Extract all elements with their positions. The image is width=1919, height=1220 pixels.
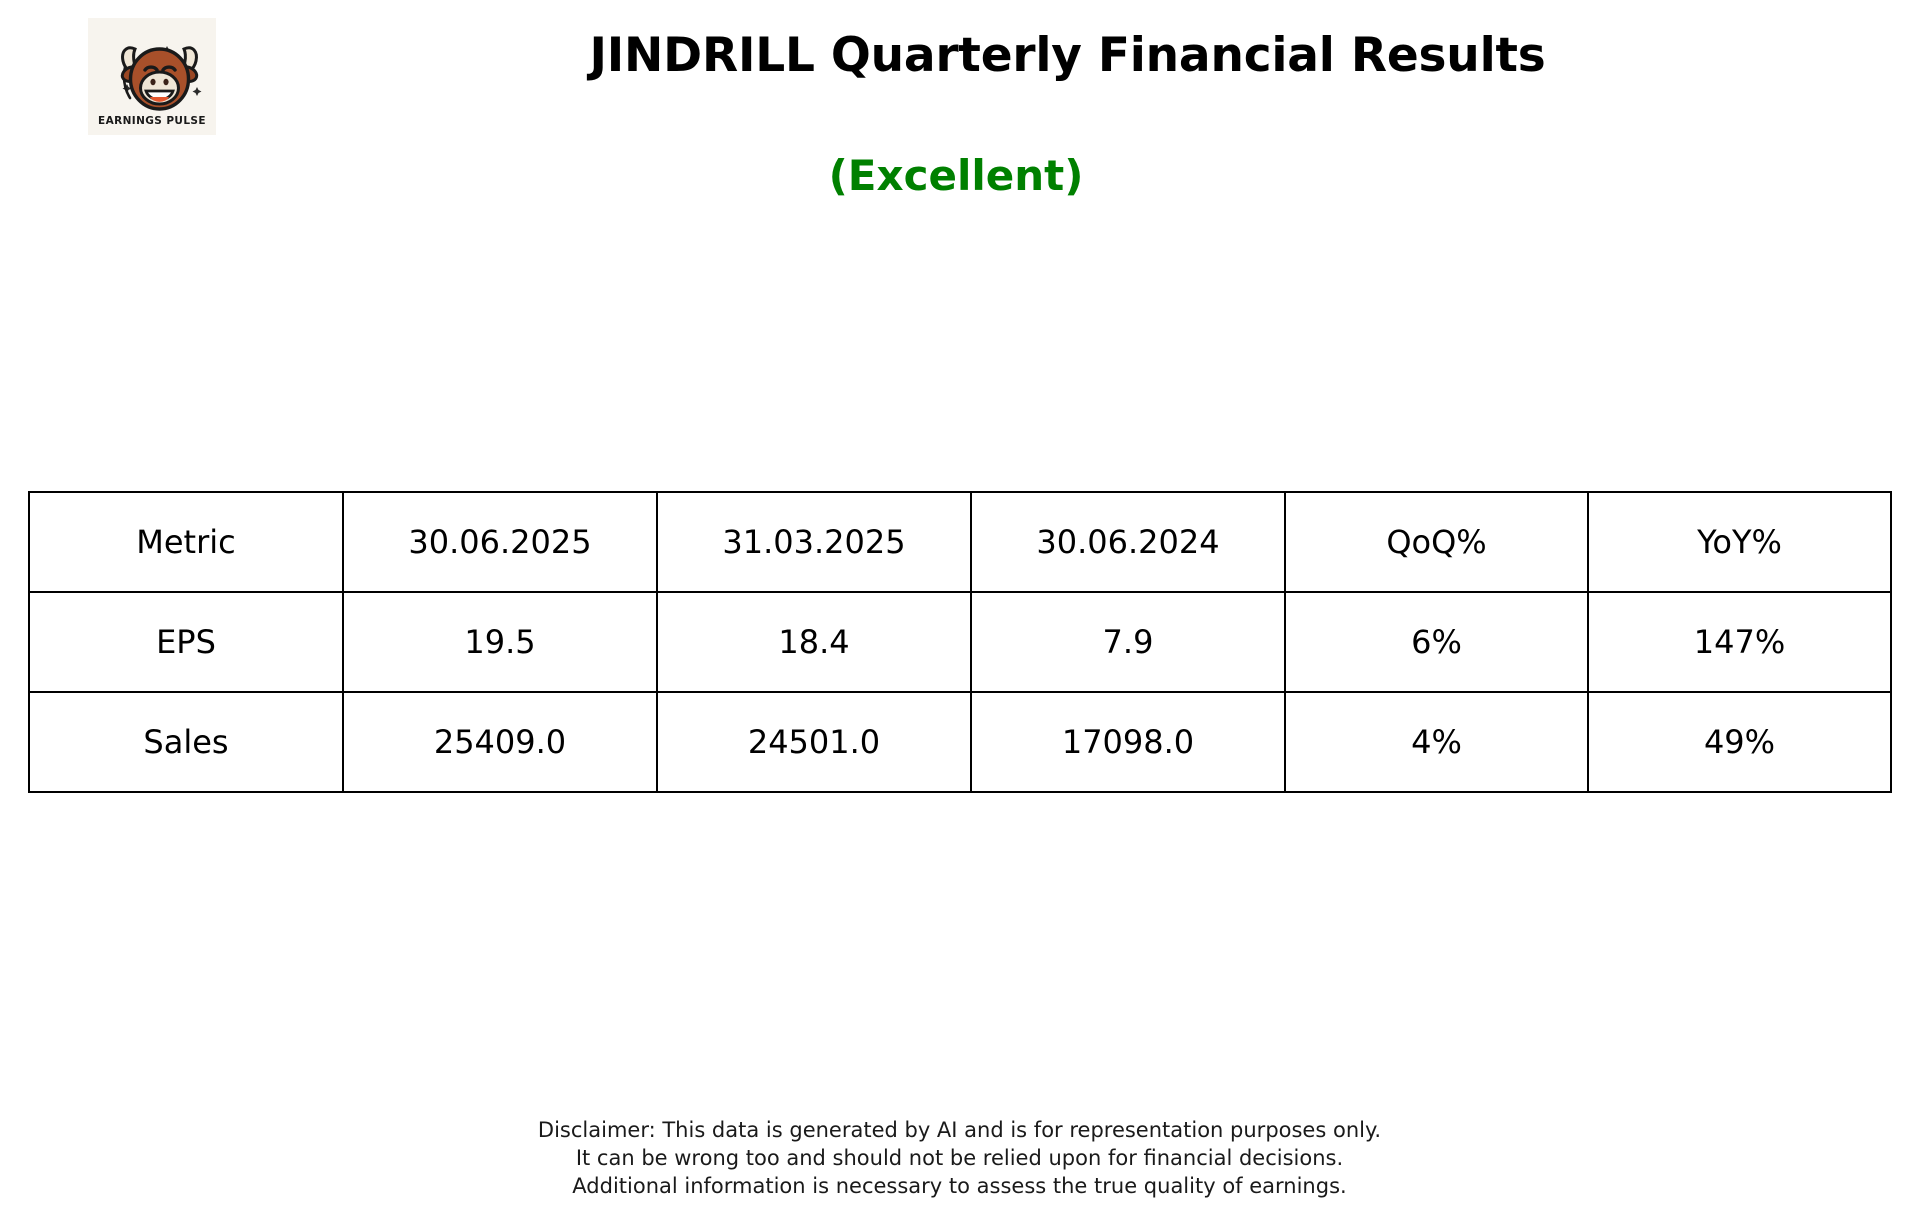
earnings-pulse-logo: EARNINGS PULSE <box>88 18 216 135</box>
table-row: EPS 19.5 18.4 7.9 6% 147% <box>29 592 1891 692</box>
cell-eps-q-year-ago: 7.9 <box>971 592 1285 692</box>
cell-eps-q-previous: 18.4 <box>657 592 971 692</box>
column-header-q-year-ago: 30.06.2024 <box>971 492 1285 592</box>
table-row: Sales 25409.0 24501.0 17098.0 4% 49% <box>29 692 1891 792</box>
bull-logo-icon: EARNINGS PULSE <box>88 18 216 135</box>
disclaimer-line-1: Disclaimer: This data is generated by AI… <box>0 1116 1919 1144</box>
row-label-eps: EPS <box>29 592 343 692</box>
cell-eps-qoq: 6% <box>1285 592 1588 692</box>
financial-results-table-wrapper: Metric 30.06.2025 31.03.2025 30.06.2024 … <box>28 491 1890 793</box>
disclaimer-line-3: Additional information is necessary to a… <box>0 1172 1919 1200</box>
logo-caption: EARNINGS PULSE <box>98 115 206 127</box>
column-header-q-previous: 31.03.2025 <box>657 492 971 592</box>
page-title: JINDRILL Quarterly Financial Results <box>216 30 1919 82</box>
cell-sales-q-year-ago: 17098.0 <box>971 692 1285 792</box>
column-header-q-current: 30.06.2025 <box>343 492 657 592</box>
cell-sales-q-current: 25409.0 <box>343 692 657 792</box>
column-header-metric: Metric <box>29 492 343 592</box>
quality-rating-subtitle: (Excellent) <box>216 153 1696 199</box>
cell-sales-q-previous: 24501.0 <box>657 692 971 792</box>
cell-sales-yoy: 49% <box>1588 692 1891 792</box>
disclaimer-line-2: It can be wrong too and should not be re… <box>0 1144 1919 1172</box>
cell-sales-qoq: 4% <box>1285 692 1588 792</box>
column-header-qoq: QoQ% <box>1285 492 1588 592</box>
cell-eps-q-current: 19.5 <box>343 592 657 692</box>
disclaimer: Disclaimer: This data is generated by AI… <box>0 1116 1919 1200</box>
table-header-row: Metric 30.06.2025 31.03.2025 30.06.2024 … <box>29 492 1891 592</box>
cell-eps-yoy: 147% <box>1588 592 1891 692</box>
financial-results-table: Metric 30.06.2025 31.03.2025 30.06.2024 … <box>28 491 1892 793</box>
column-header-yoy: YoY% <box>1588 492 1891 592</box>
row-label-sales: Sales <box>29 692 343 792</box>
